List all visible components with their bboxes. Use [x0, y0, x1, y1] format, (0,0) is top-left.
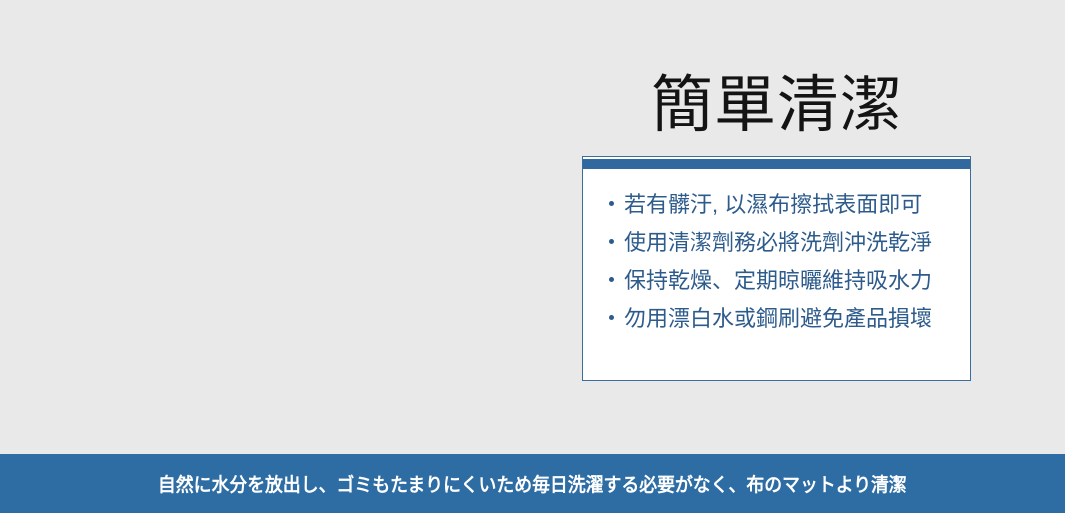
list-item: 勿用漂白水或鋼刷避免產品損壞	[609, 307, 932, 330]
card-accent-bar	[583, 159, 970, 169]
product-image-area	[0, 0, 582, 454]
page-title-text: 簡單清潔	[651, 75, 903, 137]
bullet-dot-icon	[609, 239, 614, 244]
list-item-label: 保持乾燥、定期晾曬維持吸水力	[624, 269, 932, 292]
list-item-label: 若有髒汙, 以濕布擦拭表面即可	[624, 193, 922, 216]
page-title: 簡單清潔	[582, 64, 972, 148]
bullet-dot-icon	[609, 315, 614, 320]
care-instructions-card: 若有髒汙, 以濕布擦拭表面即可 使用清潔劑務必將洗劑沖洗乾淨 保持乾燥、定期晾曬…	[582, 156, 971, 381]
care-instructions-list: 若有髒汙, 以濕布擦拭表面即可 使用清潔劑務必將洗劑沖洗乾淨 保持乾燥、定期晾曬…	[583, 169, 970, 380]
list-item: 保持乾燥、定期晾曬維持吸水力	[609, 269, 932, 307]
list-item: 使用清潔劑務必將洗劑沖洗乾淨	[609, 231, 932, 269]
list-item: 若有髒汙, 以濕布擦拭表面即可	[609, 193, 922, 231]
product-feature-slide: 簡單清潔 若有髒汙, 以濕布擦拭表面即可 使用清潔劑務必將洗劑沖洗乾淨 保持乾燥…	[0, 0, 1065, 513]
list-item-label: 勿用漂白水或鋼刷避免產品損壞	[624, 307, 932, 330]
bottom-caption-text: 自然に水分を放出し、ゴミもたまりにくいため毎日洗濯する必要がなく、布のマットより…	[158, 470, 907, 497]
bullet-dot-icon	[609, 201, 614, 206]
list-item-label: 使用清潔劑務必將洗劑沖洗乾淨	[624, 231, 932, 254]
bullet-dot-icon	[609, 277, 614, 282]
bottom-caption-banner: 自然に水分を放出し、ゴミもたまりにくいため毎日洗濯する必要がなく、布のマットより…	[0, 454, 1065, 513]
